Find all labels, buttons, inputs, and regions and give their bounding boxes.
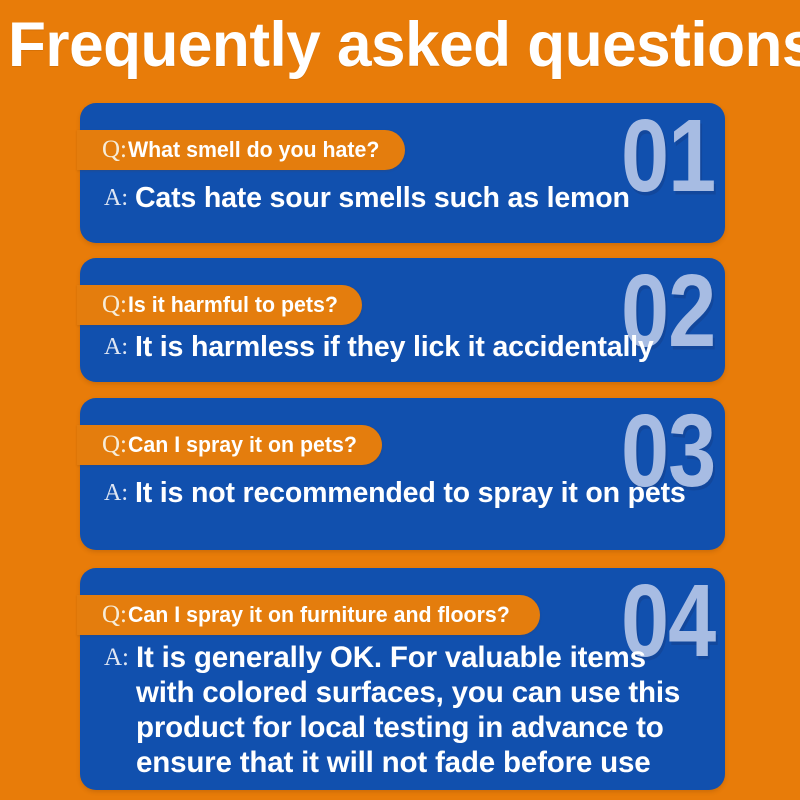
faq-card: 03 Q: Can I spray it on pets? A: It is n…: [80, 398, 725, 550]
faq-question-pill: Q: Can I spray it on pets?: [77, 425, 382, 465]
answer-prefix: A:: [104, 476, 128, 510]
answer-text: It is not recommended to spray it on pet…: [135, 476, 686, 510]
faq-card: 02 Q: Is it harmful to pets? A: It is ha…: [80, 258, 725, 382]
faq-page: Frequently asked questions 01 Q: What sm…: [0, 0, 800, 800]
question-prefix: Q:: [102, 602, 127, 627]
answer-prefix: A:: [104, 330, 128, 364]
answer-text: It is harmless if they lick it accidenta…: [135, 330, 654, 364]
question-prefix: Q:: [102, 137, 127, 162]
answer-text: Cats hate sour smells such as lemon: [135, 181, 630, 215]
question-text: Can I spray it on furniture and floors?: [128, 604, 510, 626]
question-text: Is it harmful to pets?: [128, 294, 338, 316]
faq-question-pill: Q: Can I spray it on furniture and floor…: [77, 595, 540, 635]
faq-question-pill: Q: What smell do you hate?: [77, 130, 405, 170]
question-text: Can I spray it on pets?: [128, 434, 357, 456]
faq-answer-row: A: It is not recommended to spray it on …: [104, 476, 711, 510]
question-prefix: Q:: [102, 432, 127, 457]
faq-question-pill: Q: Is it harmful to pets?: [77, 285, 362, 325]
page-title: Frequently asked questions: [8, 6, 786, 84]
faq-card: 01 Q: What smell do you hate? A: Cats ha…: [80, 103, 725, 243]
answer-prefix: A:: [104, 640, 129, 675]
faq-card: 04 Q: Can I spray it on furniture and fl…: [80, 568, 725, 790]
question-prefix: Q:: [102, 292, 127, 317]
faq-answer-row: A: Cats hate sour smells such as lemon: [104, 181, 711, 215]
faq-answer-row: A: It is generally OK. For valuable item…: [104, 640, 711, 780]
answer-prefix: A:: [104, 181, 128, 215]
question-text: What smell do you hate?: [128, 139, 379, 161]
answer-text: It is generally OK. For valuable items w…: [136, 640, 702, 780]
faq-answer-row: A: It is harmless if they lick it accide…: [104, 330, 711, 364]
